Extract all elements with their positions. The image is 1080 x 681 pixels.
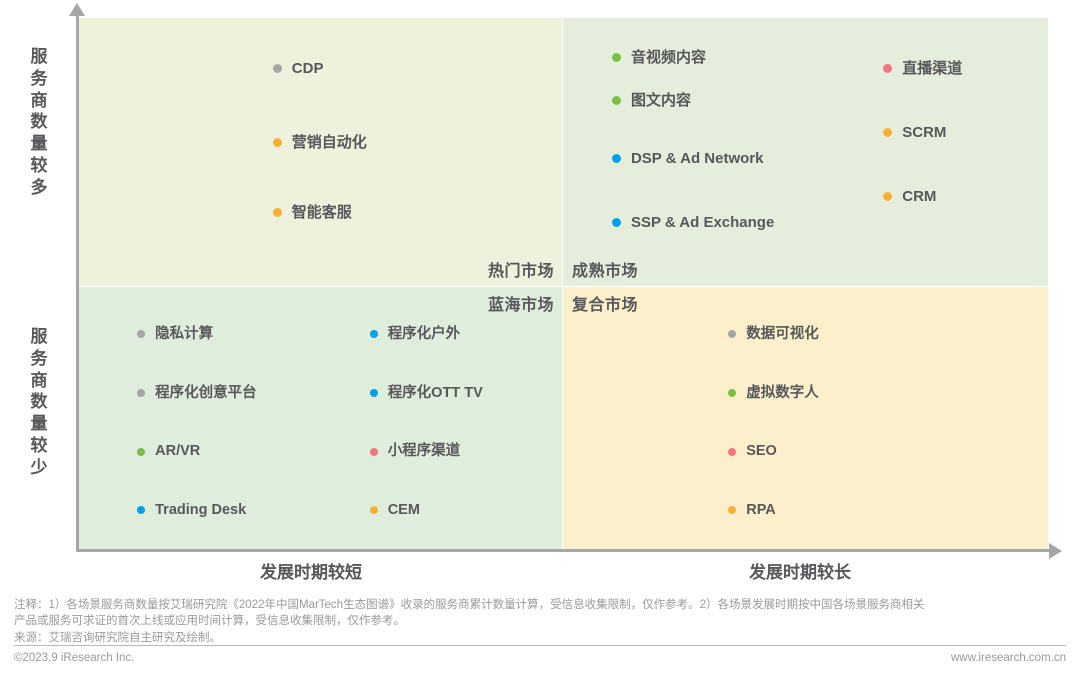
scatter-dot-icon: [137, 448, 145, 456]
scatter-point: 程序化创意平台: [137, 386, 257, 401]
scatter-point-label: SCRM: [902, 125, 946, 140]
scatter-dot-icon: [370, 506, 378, 514]
scatter-point-label: 音视频内容: [631, 50, 706, 65]
scatter-dot-icon: [883, 64, 892, 73]
scatter-dot-icon: [728, 448, 736, 456]
scatter-point-label: 小程序渠道: [388, 444, 461, 459]
scatter-dot-icon: [883, 192, 892, 201]
scatter-point: 音视频内容: [612, 50, 706, 65]
scatter-point: SEO: [728, 444, 777, 459]
quadrant-hot-market: 热门市场 CDP营销自动化智能客服: [79, 18, 562, 286]
scatter-dot-icon: [883, 128, 892, 137]
quadrant-label-blue-ocean-market: 蓝海市场: [488, 291, 554, 315]
scatter-dot-icon: [370, 389, 378, 397]
footer-notes: 注释：1）各场景服务商数量按艾瑞研究院《2022年中国MarTech生态图谱》收…: [14, 597, 1066, 646]
website-link[interactable]: www.iresearch.com.cn: [951, 652, 1066, 664]
scatter-point: 营销自动化: [273, 135, 367, 150]
scatter-point-label: SEO: [746, 444, 777, 459]
scatter-dot-icon: [370, 448, 378, 456]
scatter-point: 虚拟数字人: [728, 386, 819, 401]
scatter-dot-icon: [273, 138, 282, 147]
quadrant-mature-market: 成熟市场 音视频内容图文内容DSP & Ad NetworkSSP & Ad E…: [563, 18, 1048, 286]
scatter-point-label: CDP: [292, 61, 324, 76]
scatter-point-label: 程序化创意平台: [155, 386, 257, 401]
scatter-point-label: Trading Desk: [155, 503, 246, 518]
scatter-point-label: 隐私计算: [155, 327, 213, 342]
scatter-dot-icon: [137, 389, 145, 397]
quadrant-composite-market: 复合市场 数据可视化虚拟数字人SEORPA: [563, 287, 1048, 551]
quadrant-label-hot-market: 热门市场: [488, 257, 554, 281]
x-axis-title-short: 发展时期较短: [260, 558, 362, 583]
footer-note-1: 注释：1）各场景服务商数量按艾瑞研究院《2022年中国MarTech生态图谱》收…: [14, 597, 1066, 613]
scatter-point: CEM: [370, 503, 420, 518]
x-axis-title-long: 发展时期较长: [749, 558, 851, 583]
footer-copyright-row: ©2023.9 iResearch Inc. www.iresearch.com…: [14, 652, 1066, 664]
scatter-point: CDP: [273, 61, 324, 76]
quadrant-label-mature-market: 成熟市场: [572, 257, 638, 281]
x-axis-arrow-icon: [1049, 543, 1062, 559]
scatter-point-label: 图文内容: [631, 93, 691, 108]
scatter-point: SSP & Ad Exchange: [612, 215, 774, 230]
scatter-point: 直播渠道: [883, 61, 962, 76]
scatter-point-label: 营销自动化: [292, 135, 367, 150]
scatter-point: RPA: [728, 503, 776, 518]
scatter-point: 小程序渠道: [370, 444, 461, 459]
scatter-dot-icon: [612, 96, 621, 105]
scatter-dot-icon: [728, 506, 736, 514]
scatter-dot-icon: [137, 330, 145, 338]
quadrant-blue-ocean-market: 蓝海市场 隐私计算程序化创意平台AR/VRTrading Desk程序化户外程序…: [79, 287, 562, 551]
scatter-dot-icon: [612, 218, 621, 227]
scatter-point: DSP & Ad Network: [612, 151, 764, 166]
scatter-point: SCRM: [883, 125, 946, 140]
scatter-dot-icon: [273, 64, 282, 73]
scatter-point: 智能客服: [273, 205, 352, 220]
footer-divider: [14, 645, 1066, 646]
footer-source: 来源：艾瑞咨询研究院自主研究及绘制。: [14, 630, 1066, 646]
scatter-point: 图文内容: [612, 93, 691, 108]
scatter-dot-icon: [273, 208, 282, 217]
scatter-point: 隐私计算: [137, 327, 213, 342]
scatter-point-label: CRM: [902, 189, 936, 204]
footer-note-2: 产品或服务可求证的首次上线或应用时间计算，受信息收集限制，仅作参考。: [14, 613, 1066, 629]
scatter-point-label: 直播渠道: [902, 61, 962, 76]
scatter-point: CRM: [883, 189, 936, 204]
chart-page: 热门市场 CDP营销自动化智能客服 成熟市场 音视频内容图文内容DSP & Ad…: [0, 0, 1080, 681]
scatter-dot-icon: [137, 506, 145, 514]
scatter-dot-icon: [370, 330, 378, 338]
scatter-dot-icon: [728, 389, 736, 397]
scatter-point-label: SSP & Ad Exchange: [631, 215, 774, 230]
quadrant-plot-area: 热门市场 CDP营销自动化智能客服 成熟市场 音视频内容图文内容DSP & Ad…: [79, 18, 1048, 551]
x-axis-line: [76, 549, 1051, 552]
copyright-text: ©2023.9 iResearch Inc.: [14, 652, 134, 664]
scatter-point-label: DSP & Ad Network: [631, 151, 764, 166]
scatter-point: 程序化OTT TV: [370, 386, 483, 401]
scatter-point: AR/VR: [137, 444, 200, 459]
y-axis-title-more: 服务商数量较多: [26, 46, 52, 198]
quadrant-label-composite-market: 复合市场: [572, 291, 638, 315]
scatter-point-label: 程序化OTT TV: [388, 386, 483, 401]
scatter-point: Trading Desk: [137, 503, 246, 518]
scatter-point-label: 虚拟数字人: [746, 386, 819, 401]
y-axis-line: [76, 12, 79, 552]
y-axis-title-less: 服务商数量较少: [26, 326, 52, 478]
scatter-point: 数据可视化: [728, 327, 819, 342]
scatter-point-label: AR/VR: [155, 444, 200, 459]
scatter-point-label: 数据可视化: [746, 327, 819, 342]
scatter-dot-icon: [728, 330, 736, 338]
scatter-point-label: RPA: [746, 503, 776, 518]
y-axis-arrow-icon: [69, 3, 85, 16]
scatter-point: 程序化户外: [370, 327, 461, 342]
scatter-point-label: CEM: [388, 503, 420, 518]
scatter-dot-icon: [612, 154, 621, 163]
scatter-point-label: 程序化户外: [388, 327, 461, 342]
scatter-dot-icon: [612, 53, 621, 62]
scatter-point-label: 智能客服: [292, 205, 352, 220]
